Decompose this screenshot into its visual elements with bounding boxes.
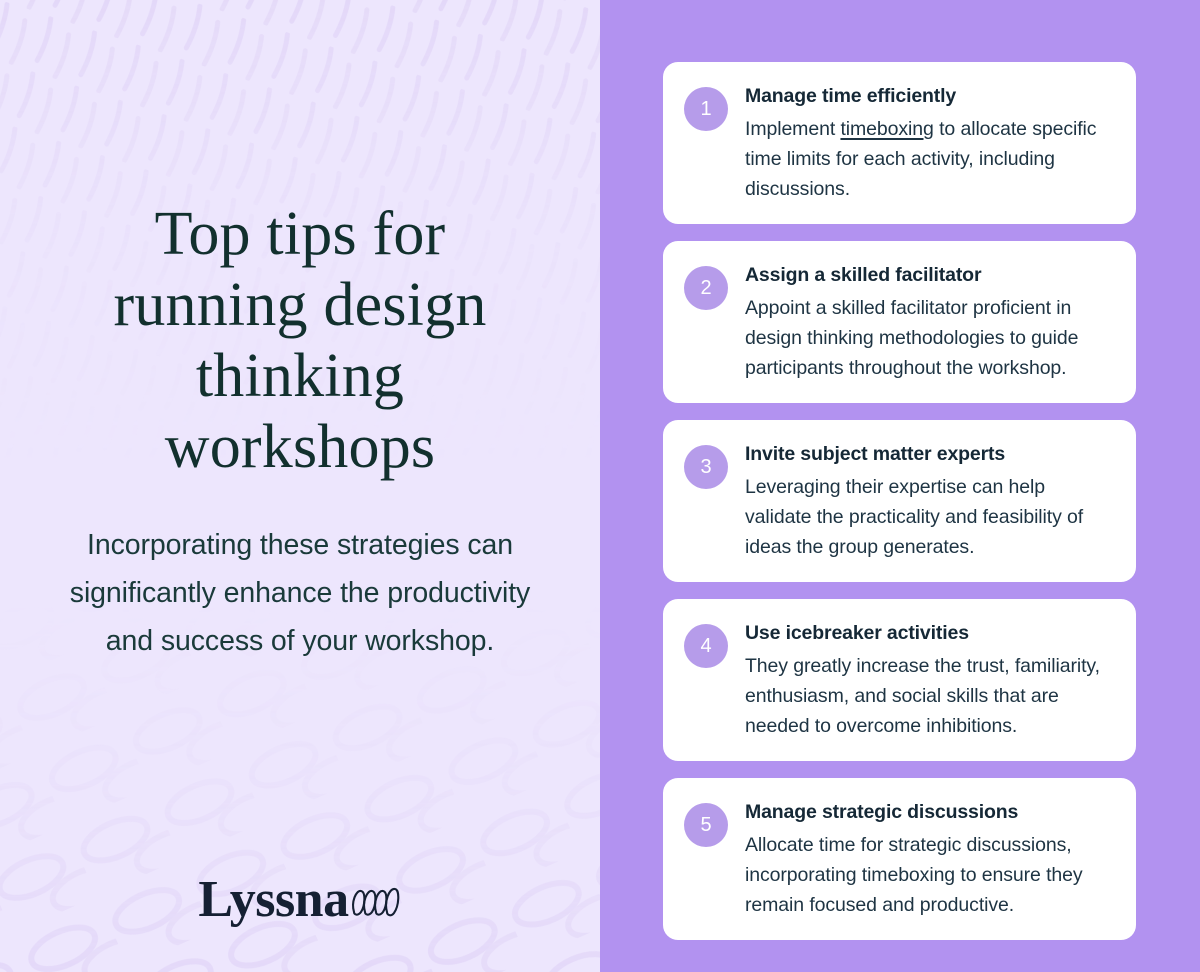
timeboxing-link[interactable]: timeboxing (840, 118, 933, 140)
tip-title: Assign a skilled facilitator (745, 262, 1114, 288)
tip-description: Leveraging their expertise can help vali… (745, 472, 1114, 562)
left-content: Top tips for running design thinking wor… (0, 0, 600, 972)
tip-number-badge: 1 (684, 87, 728, 131)
infographic-page: Top tips for running design thinking wor… (0, 0, 1200, 972)
page-title: Top tips for running design thinking wor… (85, 199, 515, 483)
tip-title: Invite subject matter experts (745, 441, 1114, 467)
tip-text-before: Implement (745, 118, 840, 140)
tip-description: They greatly increase the trust, familia… (745, 651, 1114, 741)
tip-card: 4 Use icebreaker activities They greatly… (663, 599, 1136, 761)
tip-body: Invite subject matter experts Leveraging… (745, 440, 1114, 562)
tip-body: Manage time efficiently Implement timebo… (745, 82, 1114, 204)
tip-body: Manage strategic discussions Allocate ti… (745, 798, 1114, 920)
tip-body: Use icebreaker activities They greatly i… (745, 619, 1114, 741)
tip-number-badge: 4 (684, 624, 728, 668)
tip-card: 2 Assign a skilled facilitator Appoint a… (663, 241, 1136, 403)
tip-number-badge: 3 (684, 445, 728, 489)
tip-number-badge: 5 (684, 803, 728, 847)
tip-card: 5 Manage strategic discussions Allocate … (663, 778, 1136, 940)
tip-body: Assign a skilled facilitator Appoint a s… (745, 261, 1114, 383)
tip-description: Allocate time for strategic discussions,… (745, 830, 1114, 920)
tip-title: Manage strategic discussions (745, 799, 1114, 825)
tip-title: Use icebreaker activities (745, 620, 1114, 646)
tip-description: Implement timeboxing to allocate specifi… (745, 114, 1114, 204)
tip-card: 1 Manage time efficiently Implement time… (663, 62, 1136, 224)
left-panel: Top tips for running design thinking wor… (0, 0, 600, 972)
page-subtitle: Incorporating these strategies can signi… (65, 521, 535, 665)
tips-panel: 1 Manage time efficiently Implement time… (600, 0, 1200, 972)
tip-number-badge: 2 (684, 266, 728, 310)
tip-title: Manage time efficiently (745, 83, 1114, 109)
tip-card: 3 Invite subject matter experts Leveragi… (663, 420, 1136, 582)
tip-description: Appoint a skilled facilitator proficient… (745, 293, 1114, 383)
